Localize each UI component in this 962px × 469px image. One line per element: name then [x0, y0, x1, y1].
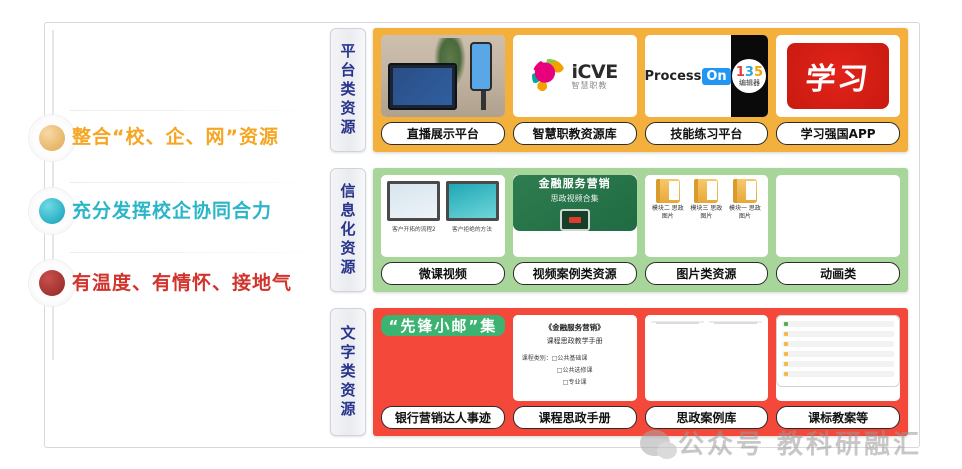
handbook-title: 《金融服务营销》 — [522, 322, 628, 333]
icve-title: iCVE — [572, 61, 618, 83]
video-case-title: 金融服务营销 — [539, 175, 611, 191]
icve-e-icon — [532, 59, 566, 93]
film-strip-a-icon — [387, 181, 440, 221]
file-row-2 — [782, 331, 894, 337]
category-row-information: 信息化资源 客户开拓的流程2 客户拒绝的方法 — [330, 168, 908, 292]
left-divider-bottom — [70, 252, 320, 253]
category-tab-platform-label: 平台类资源 — [338, 43, 359, 138]
thumb-bank-stories[interactable]: “先锋小邮”集 — [381, 315, 505, 401]
thumb-skill-platform[interactable]: ProcessOn 135 编辑器 — [645, 35, 769, 117]
pill-xuexi-app[interactable]: 学习强国APP — [776, 122, 900, 145]
case-page-right — [709, 321, 762, 323]
left-point-1: 整合“校、企、网”资源 — [72, 122, 332, 149]
pill-course-handbook[interactable]: 课程思政手册 — [513, 406, 637, 429]
editor135-word: 编辑器 — [739, 80, 760, 87]
file-row-4 — [782, 351, 894, 357]
thumb-case-library[interactable] — [645, 315, 769, 401]
folder-icon-3 — [733, 179, 757, 203]
folder-icon-2 — [694, 179, 718, 203]
desk-photo — [381, 35, 505, 117]
folder-caption-1: 模块二 思政图片 — [650, 205, 685, 220]
thumb-xuexi[interactable]: 学习 — [776, 35, 900, 117]
pill-bank-stories[interactable]: 银行营销达人事迹 — [381, 406, 505, 429]
film-caption-a: 客户开拓的流程2 — [392, 224, 436, 233]
xuexi-text: 学习 — [804, 54, 873, 98]
folder-caption-2: 模块三 思政图片 — [689, 205, 724, 220]
panel-text: “先锋小邮”集 《金融服务营销》 课程思政教学手册 课程类别：□公共基础课 □公… — [373, 308, 908, 436]
thumb-syllabus[interactable] — [776, 315, 900, 401]
pill-animation[interactable]: 动画类 — [776, 262, 900, 285]
handbook-line-2: □公共选修课 — [522, 365, 628, 374]
timeline-dot-3 — [39, 270, 65, 296]
timeline-node-3[interactable] — [29, 260, 75, 306]
pill-video-case[interactable]: 视频案例类资源 — [513, 262, 637, 285]
case-page-left — [651, 321, 704, 323]
timeline-node-1[interactable] — [29, 115, 75, 161]
laptop-icon — [560, 209, 590, 231]
timeline-dot-1 — [39, 125, 65, 151]
handbook-cover: 《金融服务营销》 课程思政教学手册 课程类别：□公共基础课 □公共选修课 □专业… — [513, 315, 637, 393]
pill-live-platform[interactable]: 直播展示平台 — [381, 122, 505, 145]
category-tab-information-label: 信息化资源 — [338, 183, 359, 278]
pill-image-resource[interactable]: 图片类资源 — [645, 262, 769, 285]
pill-icve-library[interactable]: 智慧职教资源库 — [513, 122, 637, 145]
video-case-subtitle: 思政视频合集 — [551, 193, 599, 204]
file-row-6 — [782, 371, 894, 377]
thumb-live-platform[interactable] — [381, 35, 505, 117]
category-row-text: 文字类资源 “先锋小邮”集 《金融服务营销》 课程思政教学手册 课程类别：□公共… — [330, 308, 908, 436]
left-point-2: 充分发挥校企协同合力 — [72, 196, 332, 223]
xuexi-logo: 学习 — [776, 35, 900, 117]
folder-item-3[interactable]: 模块一 思政图片 — [728, 179, 763, 220]
pill-case-library[interactable]: 思政案例库 — [645, 406, 769, 429]
left-divider-top — [70, 110, 320, 111]
editor135-badge-icon: 135 编辑器 — [732, 59, 766, 93]
folder-item-2[interactable]: 模块三 思政图片 — [689, 179, 724, 220]
folder-item-1[interactable]: 模块二 思政图片 — [650, 179, 685, 220]
file-list-screenshot — [776, 315, 900, 387]
phone-device — [470, 42, 493, 92]
processon-on: On — [702, 68, 730, 85]
folder-group: 模块二 思政图片 模块三 思政图片 模块一 思政图片 — [645, 175, 769, 224]
slide-root: 整合“校、企、网”资源 充分发挥校企协同合力 有温度、有情怀、接地气 平台类资源 — [0, 0, 962, 469]
tablet-device — [388, 63, 456, 110]
thumb-animation[interactable] — [776, 175, 900, 257]
thumb-micro-video[interactable]: 客户开拓的流程2 客户拒绝的方法 — [381, 175, 505, 257]
panel-information-thumbs: 客户开拓的流程2 客户拒绝的方法 金融服务营销 思政视频合集 — [381, 175, 900, 257]
panel-text-labels: 银行营销达人事迹 课程思政手册 思政案例库 课标教案等 — [381, 406, 900, 429]
file-row-1 — [782, 321, 894, 327]
icve-subtitle: 智慧职教 — [572, 82, 618, 90]
film-cell-b: 客户拒绝的方法 — [446, 181, 499, 233]
video-case-card: 金融服务营销 思政视频合集 — [513, 175, 637, 231]
case-pages — [645, 315, 769, 329]
folder-caption-3: 模块一 思政图片 — [728, 205, 763, 220]
file-row-5 — [782, 361, 894, 367]
pioneer-card-title: “先锋小邮”集 — [389, 315, 498, 336]
handbook-subtitle: 课程思政教学手册 — [522, 336, 628, 346]
film-pair: 客户开拓的流程2 客户拒绝的方法 — [381, 175, 505, 239]
thumb-icve[interactable]: iCVE 智慧职教 — [513, 35, 637, 117]
timeline-node-2[interactable] — [29, 188, 75, 234]
thumb-image-resource[interactable]: 模块二 思政图片 模块三 思政图片 模块一 思政图片 — [645, 175, 769, 257]
category-tab-text-label: 文字类资源 — [338, 325, 359, 420]
editor135-logo: 135 编辑器 — [731, 35, 769, 117]
panel-platform: iCVE 智慧职教 ProcessOn 135 编辑器 — [373, 28, 908, 152]
panel-information-labels: 微课视频 视频案例类资源 图片类资源 动画类 — [381, 262, 900, 285]
category-row-platform: 平台类资源 iCVE 智慧职教 — [330, 28, 908, 152]
category-tab-information[interactable]: 信息化资源 — [330, 168, 366, 292]
category-tab-text[interactable]: 文字类资源 — [330, 308, 366, 436]
panel-platform-labels: 直播展示平台 智慧职教资源库 技能练习平台 学习强国APP — [381, 122, 900, 145]
handbook-line-3: □专业课 — [522, 377, 628, 386]
folder-icon-1 — [656, 179, 680, 203]
category-tab-platform[interactable]: 平台类资源 — [330, 28, 366, 152]
processon-135-logos: ProcessOn 135 编辑器 — [645, 35, 769, 117]
left-divider-mid — [70, 182, 320, 183]
processon-word: Process — [645, 69, 702, 84]
processon-logo: ProcessOn — [645, 35, 731, 117]
pioneer-card: “先锋小邮”集 — [381, 315, 505, 336]
pill-syllabus[interactable]: 课标教案等 — [776, 406, 900, 429]
timeline-dot-2 — [39, 198, 65, 224]
film-caption-b: 客户拒绝的方法 — [452, 224, 492, 233]
film-strip-b-icon — [446, 181, 499, 221]
panel-platform-thumbs: iCVE 智慧职教 ProcessOn 135 编辑器 — [381, 35, 900, 117]
xuexi-badge-icon: 学习 — [787, 43, 888, 109]
film-cell-a: 客户开拓的流程2 — [387, 181, 440, 233]
left-point-3: 有温度、有情怀、接地气 — [72, 268, 332, 295]
panel-information: 客户开拓的流程2 客户拒绝的方法 金融服务营销 思政视频合集 — [373, 168, 908, 292]
pill-micro-video[interactable]: 微课视频 — [381, 262, 505, 285]
icve-logo: iCVE 智慧职教 — [513, 35, 637, 117]
thumb-video-case[interactable]: 金融服务营销 思政视频合集 — [513, 175, 637, 257]
handbook-line-1: 课程类别：□公共基础课 — [522, 353, 628, 362]
panel-text-thumbs: “先锋小邮”集 《金融服务营销》 课程思政教学手册 课程类别：□公共基础课 □公… — [381, 315, 900, 401]
thumb-course-handbook[interactable]: 《金融服务营销》 课程思政教学手册 课程类别：□公共基础课 □公共选修课 □专业… — [513, 315, 637, 401]
pill-skill-platform[interactable]: 技能练习平台 — [645, 122, 769, 145]
icve-wordmark: iCVE 智慧职教 — [572, 63, 618, 90]
file-row-3 — [782, 341, 894, 347]
editor135-number: 135 — [736, 66, 763, 79]
